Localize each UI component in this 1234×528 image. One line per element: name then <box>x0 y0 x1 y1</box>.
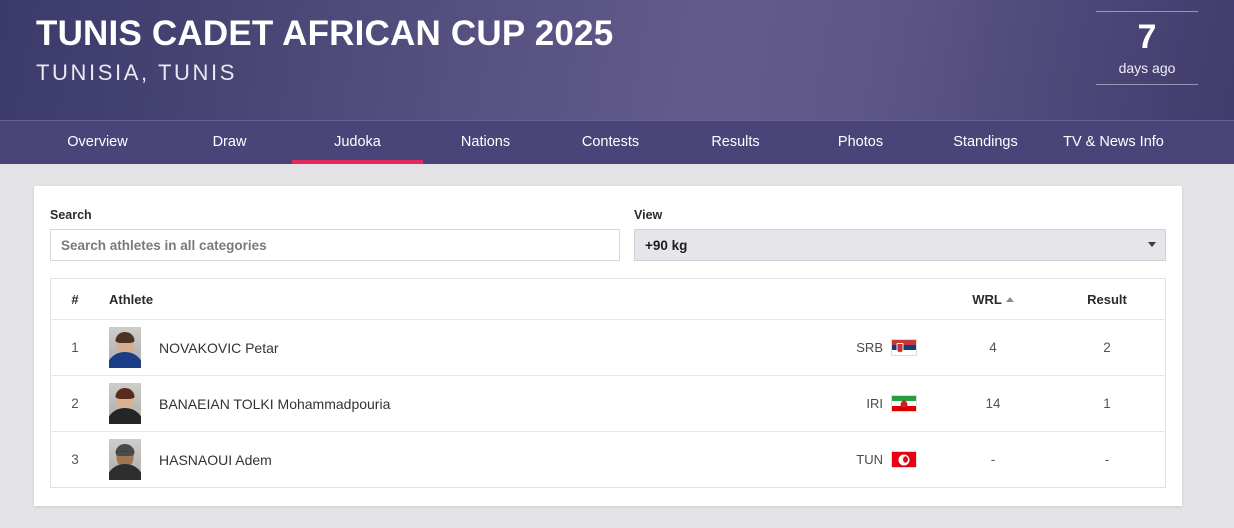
column-header-athlete[interactable]: Athlete <box>99 279 707 320</box>
days-ago-count: 7 <box>1096 16 1198 58</box>
cell-country: SRB <box>707 320 937 376</box>
cell-result: 1 <box>1049 376 1166 432</box>
column-header-wrl[interactable]: WRL <box>937 279 1049 320</box>
athlete-inner: BANAEIAN TOLKI Mohammadpouria <box>109 383 707 424</box>
country-code: SRB <box>856 340 883 355</box>
filters-row: Search View +90 kg <box>50 202 1166 261</box>
view-select-wrapper: +90 kg <box>634 229 1166 261</box>
cell-rank: 2 <box>51 376 100 432</box>
avatar-hair <box>116 332 135 343</box>
nav-item-standings[interactable]: Standings <box>923 121 1048 164</box>
cell-rank: 1 <box>51 320 100 376</box>
country-code: IRI <box>866 396 883 411</box>
cell-wrl: - <box>937 432 1049 488</box>
nav-item-contests[interactable]: Contests <box>548 121 673 164</box>
table-body: 1NOVAKOVIC PetarSRB422BANAEIAN TOLKI Moh… <box>51 320 1166 488</box>
avatar-hair <box>116 388 135 399</box>
country-inner: TUN <box>707 451 917 468</box>
nav-item-label: Contests <box>582 121 639 164</box>
column-header-result[interactable]: Result <box>1049 279 1166 320</box>
nav-item-label: Results <box>711 121 759 164</box>
caret-up-icon <box>1006 297 1014 302</box>
search-field-group: Search <box>50 208 620 261</box>
column-header-wrl-label: WRL <box>972 292 1002 307</box>
avatar-glasses <box>116 451 134 456</box>
page-title: TUNIS CADET AFRICAN CUP 2025 <box>36 10 613 58</box>
cell-athlete[interactable]: NOVAKOVIC Petar <box>99 320 707 376</box>
avatar <box>109 439 141 480</box>
avatar-shoulders <box>109 464 141 480</box>
crescent-shape <box>901 456 908 463</box>
nav-item-tv-news-info[interactable]: TV & News Info <box>1048 121 1179 164</box>
coat-of-arms-icon <box>897 343 904 353</box>
nav-item-label: TV & News Info <box>1063 121 1164 164</box>
nav-item-label: Draw <box>213 121 247 164</box>
table-header-row: # Athlete WRL Result <box>51 279 1166 320</box>
view-label: View <box>634 208 1166 222</box>
avatar <box>109 383 141 424</box>
avatar-shoulders <box>109 408 141 424</box>
search-input[interactable] <box>50 229 620 261</box>
table-row[interactable]: 2BANAEIAN TOLKI MohammadpouriaIRI141 <box>51 376 1166 432</box>
main-navigation: OverviewDrawJudokaNationsContestsResults… <box>0 120 1234 164</box>
table-header: # Athlete WRL Result <box>51 279 1166 320</box>
column-header-country[interactable] <box>707 279 937 320</box>
avatar <box>109 327 141 368</box>
table-row[interactable]: 3HASNAOUI AdemTUN-- <box>51 432 1166 488</box>
content-card: Search View +90 kg # Athlete WRL Result … <box>34 186 1182 506</box>
view-select[interactable]: +90 kg <box>634 229 1166 261</box>
days-ago-badge: 7 days ago <box>1096 11 1198 85</box>
cell-result: - <box>1049 432 1166 488</box>
column-header-rank[interactable]: # <box>51 279 100 320</box>
nav-item-draw[interactable]: Draw <box>167 121 292 164</box>
event-header: TUNIS CADET AFRICAN CUP 2025 TUNISIA, TU… <box>0 0 1234 120</box>
nav-item-label: Photos <box>838 121 883 164</box>
avatar-shoulders <box>109 352 141 368</box>
table-row[interactable]: 1NOVAKOVIC PetarSRB42 <box>51 320 1166 376</box>
cell-athlete[interactable]: HASNAOUI Adem <box>99 432 707 488</box>
nav-item-photos[interactable]: Photos <box>798 121 923 164</box>
nav-item-nations[interactable]: Nations <box>423 121 548 164</box>
athlete-name: HASNAOUI Adem <box>159 452 272 468</box>
view-field-group: View +90 kg <box>634 208 1166 261</box>
nav-item-results[interactable]: Results <box>673 121 798 164</box>
country-code: TUN <box>856 452 883 467</box>
nav-item-judoka[interactable]: Judoka <box>292 121 423 164</box>
nav-item-label: Overview <box>67 121 127 164</box>
event-title-block: TUNIS CADET AFRICAN CUP 2025 TUNISIA, TU… <box>36 10 613 88</box>
cell-rank: 3 <box>51 432 100 488</box>
search-label: Search <box>50 208 620 222</box>
cell-athlete[interactable]: BANAEIAN TOLKI Mohammadpouria <box>99 376 707 432</box>
cell-wrl: 14 <box>937 376 1049 432</box>
active-tab-indicator <box>292 160 423 164</box>
cell-country: IRI <box>707 376 937 432</box>
nav-item-label: Judoka <box>334 121 381 164</box>
iran-flag-icon <box>891 395 917 412</box>
athlete-name: BANAEIAN TOLKI Mohammadpouria <box>159 396 390 412</box>
days-ago-label: days ago <box>1096 58 1198 78</box>
cell-result: 2 <box>1049 320 1166 376</box>
crescent-star-icon <box>899 454 910 465</box>
nav-item-label: Standings <box>953 121 1018 164</box>
cell-country: TUN <box>707 432 937 488</box>
emblem-icon <box>901 400 908 407</box>
nav-item-label: Nations <box>461 121 510 164</box>
athlete-name: NOVAKOVIC Petar <box>159 340 279 356</box>
athlete-inner: HASNAOUI Adem <box>109 439 707 480</box>
serbia-flag-icon <box>891 339 917 356</box>
judoka-table: # Athlete WRL Result 1NOVAKOVIC PetarSRB… <box>50 278 1166 488</box>
country-inner: IRI <box>707 395 917 412</box>
nav-item-overview[interactable]: Overview <box>28 121 167 164</box>
tunisia-flag-icon <box>891 451 917 468</box>
event-location: TUNISIA, TUNIS <box>36 58 613 88</box>
country-inner: SRB <box>707 339 917 356</box>
flag-stripe <box>892 350 916 355</box>
cell-wrl: 4 <box>937 320 1049 376</box>
athlete-inner: NOVAKOVIC Petar <box>109 327 707 368</box>
